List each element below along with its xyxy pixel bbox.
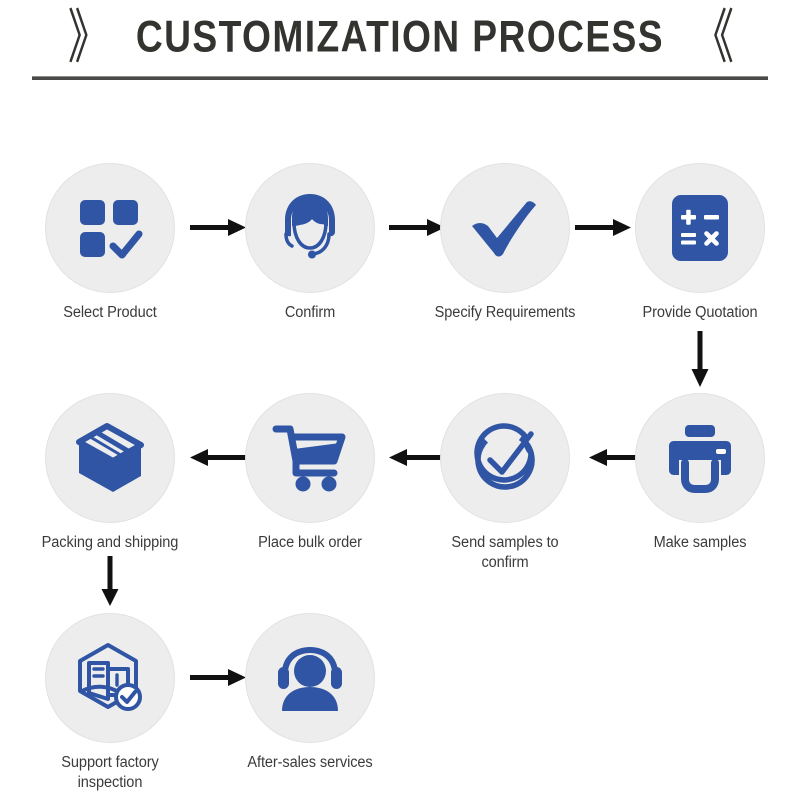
shopping-cart-icon bbox=[272, 423, 348, 493]
circle-check-icon bbox=[467, 420, 543, 496]
double-chevron-left-icon: 《 bbox=[692, 8, 732, 67]
arrow-row1-step3-to-step4 bbox=[575, 215, 631, 241]
header-divider bbox=[32, 76, 768, 80]
grid-check-icon bbox=[76, 194, 144, 262]
flow-step-label: Place bulk order bbox=[240, 533, 381, 553]
printer-machine-icon bbox=[663, 423, 737, 493]
title-row: 》 CUSTOMIZATION PROCESS 《 bbox=[0, 4, 800, 70]
step-icon-circle bbox=[635, 393, 765, 523]
flow-step-make-samples[interactable]: Make samples bbox=[625, 393, 775, 553]
step-icon-circle bbox=[45, 163, 175, 293]
step-icon-circle bbox=[45, 393, 175, 523]
flow-step-support-factory-inspection[interactable]: Support factory inspection bbox=[35, 613, 185, 793]
flow-step-after-sales-services[interactable]: After-sales services bbox=[235, 613, 385, 773]
flow-step-label: After-sales services bbox=[240, 753, 381, 773]
page-header: 》 CUSTOMIZATION PROCESS 《 bbox=[0, 0, 800, 95]
flow-step-label: Provide Quotation bbox=[630, 303, 771, 323]
flow-step-label: Confirm bbox=[240, 303, 381, 323]
page-title: CUSTOMIZATION PROCESS bbox=[136, 15, 664, 60]
step-icon-circle bbox=[245, 163, 375, 293]
double-chevron-right-icon: 》 bbox=[68, 8, 108, 67]
headset-agent-icon bbox=[272, 190, 348, 266]
step-icon-circle bbox=[45, 613, 175, 743]
calculator-icon bbox=[668, 192, 732, 264]
flow-step-specify-requirements[interactable]: Specify Requirements bbox=[430, 163, 580, 323]
flow-step-select-product[interactable]: Select Product bbox=[35, 163, 185, 323]
flow-step-label: Support factory inspection bbox=[40, 753, 181, 793]
checkmark-icon bbox=[467, 190, 543, 266]
arrow-row2-to-row3 bbox=[97, 556, 123, 606]
flow-step-send-samples-to-confirm[interactable]: Send samples to confirm bbox=[430, 393, 580, 573]
step-icon-circle bbox=[635, 163, 765, 293]
step-icon-circle bbox=[440, 163, 570, 293]
flow-step-packing-and-shipping[interactable]: Packing and shipping bbox=[35, 393, 185, 553]
headset-person-icon bbox=[272, 643, 348, 713]
step-icon-circle bbox=[440, 393, 570, 523]
flow-step-place-bulk-order[interactable]: Place bulk order bbox=[235, 393, 385, 553]
flow-step-label: Packing and shipping bbox=[40, 533, 181, 553]
flow-step-label: Select Product bbox=[40, 303, 181, 323]
package-box-icon bbox=[73, 421, 147, 495]
step-icon-circle bbox=[245, 393, 375, 523]
step-icon-circle bbox=[245, 613, 375, 743]
flow-step-confirm[interactable]: Confirm bbox=[235, 163, 385, 323]
factory-inspection-icon bbox=[72, 641, 148, 715]
flow-step-label: Specify Requirements bbox=[435, 303, 576, 323]
flow-step-provide-quotation[interactable]: Provide Quotation bbox=[625, 163, 775, 323]
flow-step-label: Make samples bbox=[630, 533, 771, 553]
arrow-row1-to-row2 bbox=[687, 331, 713, 387]
flow-step-label: Send samples to confirm bbox=[435, 533, 576, 573]
